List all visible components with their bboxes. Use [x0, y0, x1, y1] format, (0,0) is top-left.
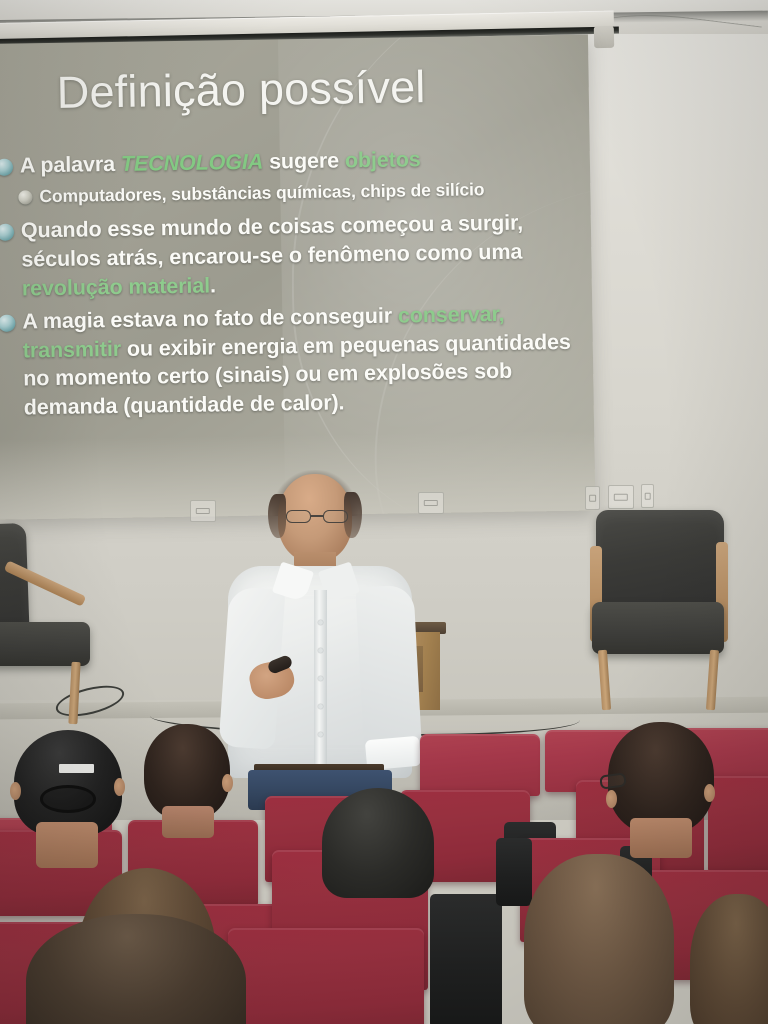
student-glasses-right: [608, 722, 714, 834]
student-black-cap: [14, 730, 122, 836]
accent-transmitir: transmitir: [23, 337, 122, 363]
ear: [222, 774, 233, 792]
slide-bullet-4: A magia estava no fato de conseguir cons…: [0, 299, 578, 423]
ear: [704, 784, 715, 802]
accent-tecnologia: TECNOLOGIA: [121, 150, 264, 176]
eyeglass-bridge: [311, 515, 323, 517]
slide-bullet-1-text: A palavra TECNOLOGIA sugere objetos: [20, 145, 421, 180]
cap-strap: [40, 785, 96, 813]
presenter-hair-left-side: [268, 494, 286, 538]
projector-screen-endcap: [594, 26, 614, 48]
accent-conservar: conservar,: [398, 302, 505, 328]
armchair-right-leg-fl: [598, 650, 611, 710]
armchair-left: [0, 524, 156, 724]
ear: [10, 782, 21, 800]
eyeglass-lens-left: [286, 510, 311, 523]
head-hair: [26, 914, 246, 1024]
ear: [606, 790, 617, 808]
student-long-hair-right: [524, 854, 674, 1024]
seat-row1-center-b: [228, 928, 424, 1024]
shirt-button: [318, 676, 323, 681]
slide-bullet-4-text: A magia estava no fato de conseguir cons…: [22, 299, 578, 422]
student-dark-hood: [322, 788, 434, 898]
student-long-hair-center: [26, 914, 246, 1024]
sphere-bullet-icon: [0, 159, 13, 176]
seat-row3-center: [420, 734, 540, 796]
slide-bullet-list: A palavra TECNOLOGIA sugere objetos Comp…: [0, 143, 578, 428]
sphere-bullet-icon: [0, 315, 16, 332]
armchair-right: [586, 510, 746, 725]
wall-outlet-right-c: [641, 484, 654, 508]
shirt-button: [318, 704, 323, 709]
accent-revolucao-material: revolução material: [22, 273, 211, 300]
seat-row2-far-right: [708, 776, 768, 872]
student-dark-hair-left: [144, 724, 230, 820]
neck: [36, 822, 98, 868]
armchair-left-leg-front: [68, 662, 80, 724]
ear: [114, 778, 125, 796]
shirt-button: [318, 648, 323, 653]
baseball-cap: [14, 730, 122, 836]
accent-objetos: objetos: [345, 147, 421, 172]
lecture-hall-scene: Definição possível A palavra TECNOLOGIA …: [0, 0, 768, 1024]
presenter-eyeglasses: [286, 510, 348, 524]
neck: [630, 818, 692, 858]
slide-bullet-2: Computadores, substâncias químicas, chip…: [0, 176, 575, 208]
student-long-hair-far-right: [690, 894, 768, 1024]
eyeglass-lens-right: [323, 510, 348, 523]
wall-outlet-right-a: [585, 486, 600, 510]
projection-screen: Definição possível A palavra TECNOLOGIA …: [0, 35, 595, 520]
audience-seating: [0, 726, 768, 1024]
seat-frame-row1-center: [430, 894, 502, 1024]
neck: [162, 806, 214, 838]
sphere-bullet-icon: [0, 224, 14, 241]
armchair-right-leg-fr: [706, 650, 719, 710]
slide-bullet-2-text: Computadores, substâncias químicas, chip…: [39, 178, 484, 208]
cap-brand-label: [59, 764, 94, 774]
head-hair: [690, 894, 768, 1024]
armchair-left-seat: [0, 622, 90, 666]
armchair-right-seat: [592, 602, 724, 654]
slide-bullet-3: Quando esse mundo de coisas começou a su…: [0, 208, 576, 303]
armchair-right-backrest: [596, 510, 724, 610]
head-hair: [524, 854, 674, 1024]
shirt-button: [318, 620, 323, 625]
slide-title: Definição possível: [56, 61, 426, 119]
sphere-bullet-icon-sub: [18, 190, 32, 204]
wall-outlet-right-b: [608, 485, 634, 509]
slide-bullet-3-text: Quando esse mundo de coisas começou a su…: [21, 208, 576, 302]
hood: [322, 788, 434, 898]
slide-bullet-1: A palavra TECNOLOGIA sugere objetos: [0, 143, 574, 181]
